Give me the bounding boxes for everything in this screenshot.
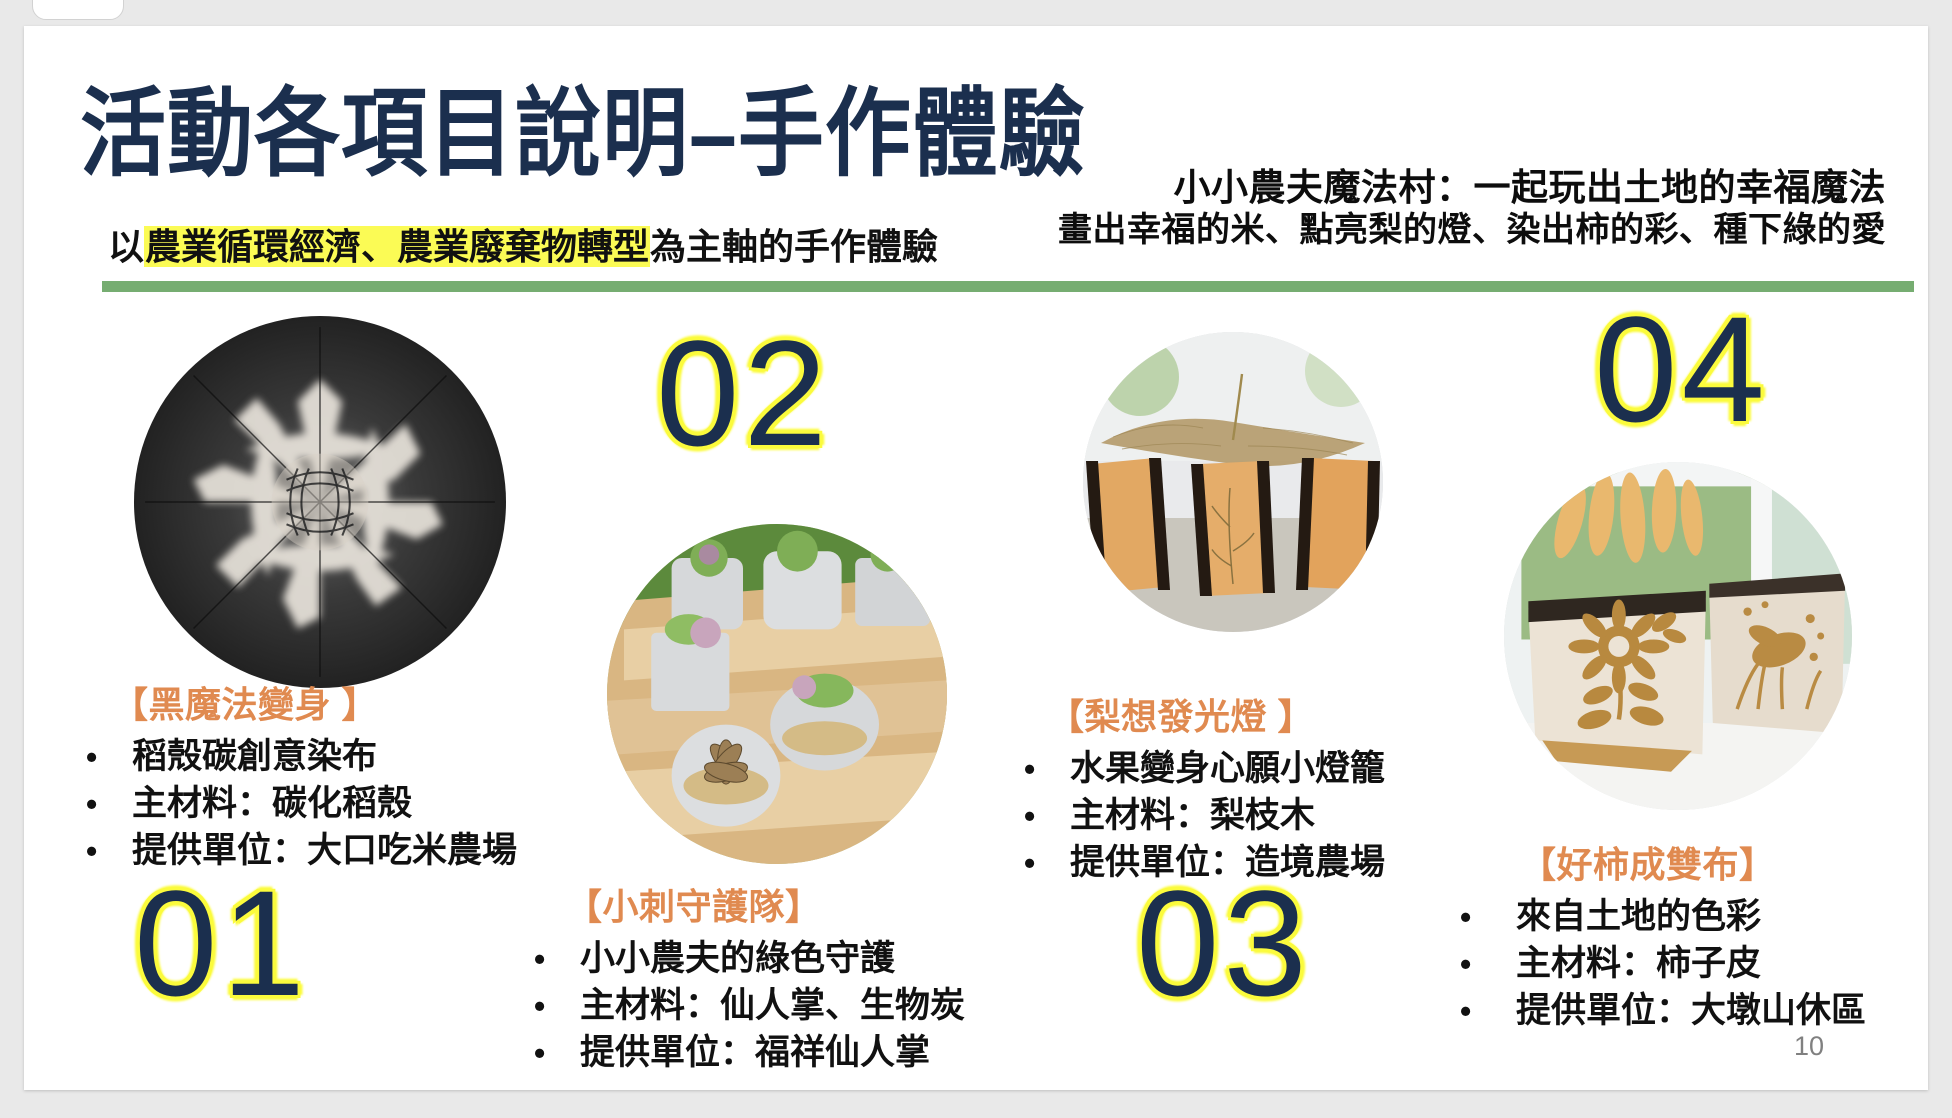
slide-canvas: 活動各項目說明–手作體驗 以農業循環經濟、農業廢棄物轉型為主軸的手作體驗 小小農… (24, 26, 1928, 1090)
item-block-2: 【小刺守護隊】 •小小農夫的綠色守護 •主材料：仙人掌、生物炭 •提供單位：福祥… (534, 878, 965, 1077)
header-right-line-2: 畫出幸福的米、點亮梨的燈、染出柿的彩、種下綠的愛 (1058, 210, 1886, 251)
bullet-text: 提供單位：大口吃米農場 (132, 828, 517, 875)
bullet-dot-icon: • (534, 983, 580, 1029)
bullet-text: 小小農夫的綠色守護 (580, 936, 895, 983)
bullet-dot-icon: • (86, 828, 132, 874)
item-bullets-2: •小小農夫的綠色守護 •主材料：仙人掌、生物炭 •提供單位：福祥仙人掌 (534, 936, 965, 1077)
bullet-text: 提供單位：福祥仙人掌 (580, 1030, 930, 1077)
page-number: 10 (1794, 1031, 1824, 1062)
item-title-4: 【好柿成雙布】 (1460, 836, 1866, 888)
page-title: 活動各項目說明–手作體驗 (80, 84, 1086, 185)
subtitle-highlight: 農業循環經濟、農業廢棄物轉型 (144, 226, 650, 267)
list-item: •提供單位：大墩山休區 (1460, 988, 1866, 1035)
list-item: •主材料：柿子皮 (1460, 941, 1866, 988)
bullet-dot-icon: • (1460, 988, 1516, 1034)
subtitle-suffix: 為主軸的手作體驗 (650, 226, 938, 267)
item-bullets-3: •水果變身心願小燈籠 •主材料：梨枝木 •提供單位：造境農場 (1024, 746, 1385, 887)
item-number-03: 03 (1136, 868, 1311, 1018)
header-right-line-1: 小小農夫魔法村：一起玩出土地的幸福魔法 (1058, 166, 1886, 210)
bullet-text: 來自土地的色彩 (1516, 894, 1761, 941)
screen: 活動各項目說明–手作體驗 以農業循環經濟、農業廢棄物轉型為主軸的手作體驗 小小農… (0, 0, 1952, 1118)
list-item: •主材料：梨枝木 (1024, 793, 1385, 840)
shibori-pattern-graphic (134, 316, 506, 688)
succulents-graphic (607, 524, 947, 864)
subtitle-prefix: 以 (108, 226, 144, 267)
list-item: •提供單位：造境農場 (1024, 840, 1385, 887)
item-title-2: 【小刺守護隊】 (534, 878, 965, 930)
bullet-text: 水果變身心願小燈籠 (1070, 746, 1385, 793)
list-item: •水果變身心願小燈籠 (1024, 746, 1385, 793)
header-right-block: 小小農夫魔法村：一起玩出土地的幸福魔法 畫出幸福的米、點亮梨的燈、染出柿的彩、種… (1058, 166, 1886, 251)
item-number-01: 01 (134, 868, 309, 1018)
bullet-text: 主材料：仙人掌、生物炭 (580, 983, 965, 1030)
list-item: •提供單位：福祥仙人掌 (534, 1030, 965, 1077)
pouches-graphic (1504, 462, 1852, 810)
bullet-text: 主材料：柿子皮 (1516, 941, 1761, 988)
list-item: •稻殼碳創意染布 (86, 734, 517, 781)
bullet-dot-icon: • (1460, 941, 1516, 987)
lanterns-graphic (1083, 332, 1383, 632)
photo-pear-wood-lanterns (1083, 332, 1383, 632)
bullet-text: 提供單位：造境農場 (1070, 840, 1385, 887)
item-title-1: 【黑魔法變身 】 (86, 676, 517, 728)
bullet-text: 稻殼碳創意染布 (132, 734, 377, 781)
bullet-text: 主材料：梨枝木 (1070, 793, 1315, 840)
bullet-dot-icon: • (1460, 894, 1516, 940)
subtitle: 以農業循環經濟、農業廢棄物轉型為主軸的手作體驗 (108, 218, 938, 270)
list-item: •小小農夫的綠色守護 (534, 936, 965, 983)
item-block-4: 【好柿成雙布】 •來自土地的色彩 •主材料：柿子皮 •提供單位：大墩山休區 (1460, 836, 1866, 1035)
list-item: •主材料：仙人掌、生物炭 (534, 983, 965, 1030)
item-block-3: 【梨想發光燈 】 •水果變身心願小燈籠 •主材料：梨枝木 •提供單位：造境農場 (1024, 688, 1385, 887)
bullet-text: 主材料：碳化稻殼 (132, 781, 412, 828)
photo-persimmon-dyed-pouches (1504, 462, 1852, 810)
bullet-dot-icon: • (86, 734, 132, 780)
item-block-1: 【黑魔法變身 】 •稻殼碳創意染布 •主材料：碳化稻殼 •提供單位：大口吃米農場 (86, 676, 517, 875)
item-bullets-4: •來自土地的色彩 •主材料：柿子皮 •提供單位：大墩山休區 (1460, 894, 1866, 1035)
item-number-04: 04 (1594, 294, 1769, 444)
bullet-text: 提供單位：大墩山休區 (1516, 988, 1866, 1035)
bullet-dot-icon: • (1024, 746, 1070, 792)
bullet-dot-icon: • (86, 781, 132, 827)
browser-tab-chrome[interactable] (32, 0, 124, 20)
item-number-02: 02 (656, 318, 831, 468)
bullet-dot-icon: • (1024, 840, 1070, 886)
photo-black-magic-dyed-cloth (134, 316, 506, 688)
bullet-dot-icon: • (1024, 793, 1070, 839)
item-bullets-1: •稻殼碳創意染布 •主材料：碳化稻殼 •提供單位：大口吃米農場 (86, 734, 517, 875)
item-title-3: 【梨想發光燈 】 (1024, 688, 1385, 740)
bullet-dot-icon: • (534, 1030, 580, 1076)
list-item: •來自土地的色彩 (1460, 894, 1866, 941)
list-item: •提供單位：大口吃米農場 (86, 828, 517, 875)
list-item: •主材料：碳化稻殼 (86, 781, 517, 828)
photo-succulent-concrete-pots (607, 524, 947, 864)
bullet-dot-icon: • (534, 936, 580, 982)
